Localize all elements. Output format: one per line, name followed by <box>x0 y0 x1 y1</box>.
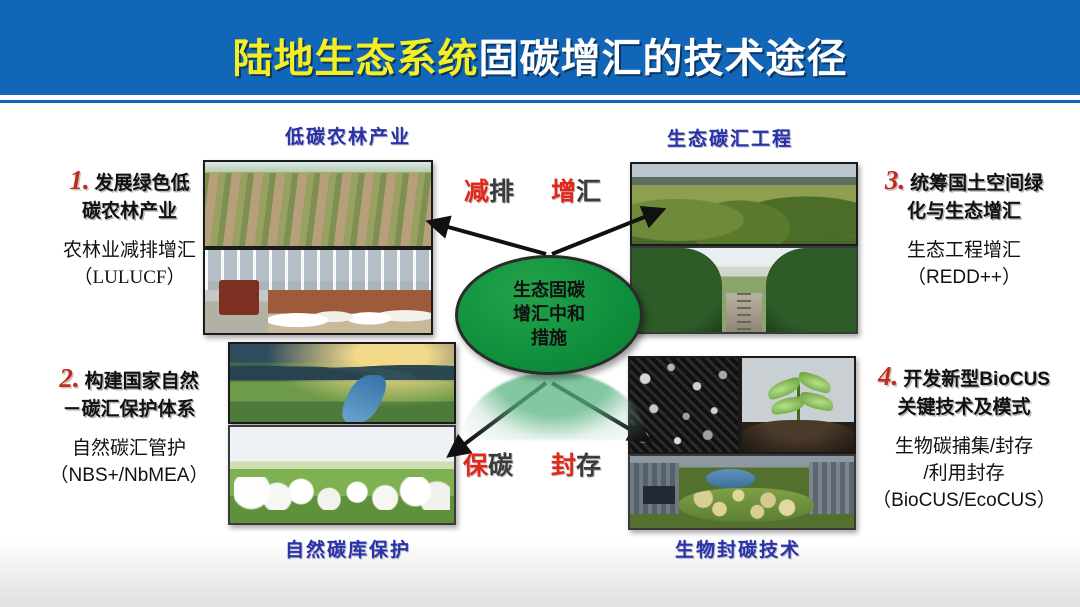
cattle-barn-photo <box>203 248 433 335</box>
strategy-block-1: 1.发展绿色低 碳农林产业 农林业减排增汇 （LULUCF） <box>22 162 237 292</box>
flow-label-zenghui: 增汇 <box>551 172 601 208</box>
crop-field-rows-photo <box>203 160 433 248</box>
grassland-sheep-photo <box>228 425 456 525</box>
page-title: 陆地生态系统固碳增汇的技术途径 <box>0 26 1080 84</box>
flow-label-jianpai: 减排 <box>464 172 514 208</box>
strategy-block-4: 4.开发新型BioCUS 关键技术及模式 生物碳捕集/封存 /利用封存 （Bio… <box>852 358 1076 515</box>
flow-label-baotan-cool: 碳 <box>488 452 513 480</box>
strategy-3-heading-line1: 统筹国土空间绿 <box>910 173 1043 194</box>
caption-top-left: 低碳农林产业 <box>238 122 458 149</box>
strategy-4-subtext: 生物碳捕集/封存 /利用封存 （BioCUS/EcoCUS） <box>852 434 1076 515</box>
strategy-2-sub-line2: （NBS+/NbMEA） <box>50 465 209 486</box>
urban-park-aerial-photo <box>628 454 856 530</box>
strategy-1-sub-line1: 农林业减排增汇 <box>63 240 196 261</box>
strategy-2-sub-line1: 自然碳汇管护 <box>72 438 186 459</box>
strategy-1-number: 1. <box>69 165 89 195</box>
flow-label-jianpai-hot: 减 <box>464 178 489 206</box>
strategy-3-sub-line1: 生态工程增汇 <box>907 240 1021 261</box>
center-oval: 生态固碳 增汇中和 措施 <box>455 255 643 375</box>
seedling-in-soil-photo <box>740 356 856 454</box>
strategy-4-sub-line3: （BioCUS/EcoCUS） <box>872 490 1056 511</box>
strategy-1-heading-line1: 发展绿色低 <box>95 173 190 194</box>
strategy-4-heading-line2: 关键技术及模式 <box>897 397 1030 418</box>
tree-lined-railway-photo <box>630 246 858 334</box>
center-oval-label: 生态固碳 增汇中和 措施 <box>513 279 585 350</box>
strategy-2-heading-line1: 构建国家自然 <box>85 371 199 392</box>
strategy-2-number: 2. <box>59 363 79 393</box>
page-title-white-part: 固碳增汇的技术途径 <box>479 37 848 81</box>
flow-label-zenghui-hot: 增 <box>551 178 576 206</box>
slide-canvas: 陆地生态系统固碳增汇的技术途径 低碳农林产业 生态碳汇工程 自然碳库保护 生物封… <box>0 0 1080 607</box>
strategy-block-3: 3.统筹国土空间绿 化与生态增汇 生态工程增汇 （REDD++） <box>852 162 1076 292</box>
strategy-block-2: 2.构建国家自然 －碳汇保护体系 自然碳汇管护 （NBS+/NbMEA） <box>20 360 238 490</box>
strategy-2-subtext: 自然碳汇管护 （NBS+/NbMEA） <box>20 436 238 490</box>
strategy-1-sub-line2: （LULUCF） <box>74 267 186 288</box>
flow-label-fengcun-cool: 存 <box>576 452 601 480</box>
strategy-4-sub-line2: /利用封存 <box>923 463 1004 484</box>
strategy-4-heading-line1: 开发新型BioCUS <box>903 369 1050 390</box>
caption-bottom-right: 生物封碳技术 <box>618 535 858 562</box>
strategy-3-heading: 3.统筹国土空间绿 化与生态增汇 <box>852 162 1076 225</box>
flow-label-baotan: 保碳 <box>463 446 513 482</box>
strategy-4-number: 4. <box>878 361 898 391</box>
karst-landscape-river-photo <box>228 342 456 424</box>
strategy-1-heading-line2: 碳农林产业 <box>82 201 177 222</box>
flow-label-zenghui-cool: 汇 <box>576 178 601 206</box>
strategy-3-subtext: 生态工程增汇 （REDD++） <box>852 238 1076 292</box>
caption-top-right: 生态碳汇工程 <box>620 124 840 151</box>
strategy-1-heading: 1.发展绿色低 碳农林产业 <box>22 162 237 225</box>
strategy-4-sub-line1: 生物碳捕集/封存 <box>895 436 1033 457</box>
footer-gradient-band <box>0 540 1080 607</box>
slide-header: 陆地生态系统固碳增汇的技术途径 <box>0 0 1080 95</box>
strategy-1-subtext: 农林业减排增汇 （LULUCF） <box>22 238 237 292</box>
flow-label-baotan-hot: 保 <box>463 452 488 480</box>
caption-bottom-left: 自然碳库保护 <box>228 535 468 562</box>
strategy-2-heading-line2: －碳汇保护体系 <box>62 399 195 420</box>
forest-canopy-photo <box>630 162 858 246</box>
strategy-2-heading: 2.构建国家自然 －碳汇保护体系 <box>20 360 238 423</box>
flow-label-fengcun-hot: 封 <box>551 452 576 480</box>
strategy-4-heading: 4.开发新型BioCUS 关键技术及模式 <box>852 358 1076 421</box>
flow-label-fengcun: 封存 <box>551 446 601 482</box>
flow-label-jianpai-cool: 排 <box>489 178 514 206</box>
strategy-3-number: 3. <box>885 165 905 195</box>
page-title-yellow-part: 陆地生态系统 <box>233 37 479 81</box>
strategy-3-heading-line2: 化与生态增汇 <box>907 201 1021 222</box>
strategy-3-sub-line2: （REDD++） <box>907 267 1021 288</box>
